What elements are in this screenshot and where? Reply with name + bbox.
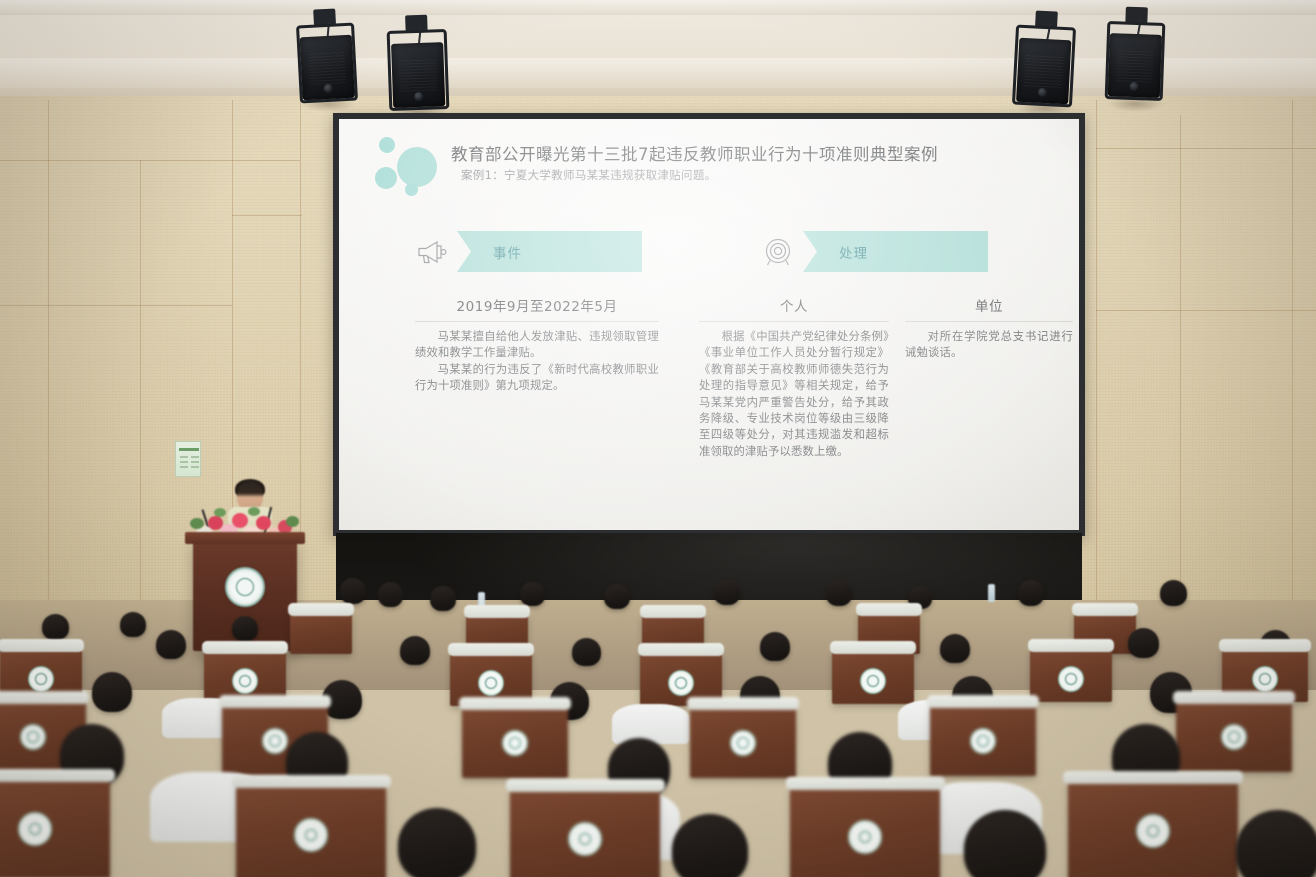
seat[interactable] [290,612,352,654]
audience-head [340,578,366,604]
column-person: 个人 根据《中国共产党纪律处分条例》《事业单位工作人员处分暂行规定》《教育部关于… [699,295,889,460]
badge-handling: 处理 [757,231,988,272]
water-bottle [988,584,995,602]
column-person-body: 根据《中国共产党纪律处分条例》《事业单位工作人员处分暂行规定》《教育部关于高校教… [699,329,889,460]
audience-head [520,582,545,606]
speaker-box [300,35,354,100]
wall-notice-board [175,441,201,477]
audience-head [1128,628,1159,658]
seat[interactable] [0,778,110,877]
badge-handling-label: 处理 [839,242,868,262]
audience-head [232,616,258,641]
podium-top [185,532,305,544]
wall-seam [232,215,302,216]
wall-seam [1096,148,1316,149]
circle-large-icon [397,147,437,187]
seat[interactable] [930,704,1036,776]
seat[interactable] [690,706,796,778]
foliage [190,518,204,529]
audience-head [672,814,748,877]
badge-event-label: 事件 [493,242,522,262]
speaker-grill [399,58,438,93]
speaker-box [1016,37,1072,104]
audience-head [714,580,740,605]
seat[interactable] [832,650,914,704]
audience-head [378,582,403,607]
audience-head [826,580,852,606]
speaker-grill [1024,53,1064,88]
audience-head [42,614,69,640]
speaker-woofer [414,91,424,101]
speaker-box [1108,34,1161,98]
speaker-grill [308,50,346,84]
ceiling-speaker-3 [1012,24,1076,107]
column-event: 2019年9月至2022年5月 马某某擅自给他人发放津贴、违规领取管理绩效和教学… [415,295,659,395]
column-unit-body: 对所在学院党总支书记进行诫勉谈话。 [905,329,1073,362]
audience-head [604,584,630,609]
seat[interactable] [510,788,660,877]
target-icon [757,233,799,271]
audience-head [1018,580,1044,606]
seat[interactable] [462,706,568,778]
seat[interactable] [1030,648,1112,702]
foliage [286,516,299,527]
circle-tiny-icon [405,183,418,196]
projection-screen-frame: 教育部公开曝光第十三批7起违反教师职业行为十项准则典型案例 案例1：宁夏大学教师… [333,113,1085,536]
divider [905,321,1073,322]
speaker-woofer [324,84,334,94]
decorative-circles [371,135,451,197]
audience-head [430,586,456,611]
column-event-heading: 2019年9月至2022年5月 [415,295,659,321]
audience-head [1160,580,1187,606]
column-unit-heading: 单位 [905,295,1073,321]
circle-small-icon [379,137,395,153]
column-unit: 单位 对所在学院党总支书记进行诫勉谈话。 [905,295,1073,362]
badge-event-bar: 事件 [457,231,642,272]
seat[interactable] [790,786,940,877]
audience-head [940,634,970,663]
seat[interactable] [236,784,386,877]
audience-head [1236,810,1316,877]
foliage [248,507,260,516]
flower [232,513,248,528]
audience-head [400,636,430,665]
audience-head [120,612,146,637]
audience-head [760,632,790,661]
audience-seating [0,560,1316,877]
ceiling-beam-front [0,0,1316,14]
paragraph: 马某某的行为违反了《新时代高校教师职业行为十项准则》第九项规定。 [415,362,659,395]
presentation-slide: 教育部公开曝光第十三批7起违反教师职业行为十项准则典型案例 案例1：宁夏大学教师… [339,119,1079,530]
foliage [214,508,226,517]
ceiling-speaker-1 [296,23,358,104]
paragraph: 根据《中国共产党纪律处分条例》《事业单位工作人员处分暂行规定》《教育部关于高校教… [699,329,889,460]
divider [415,321,659,322]
speaker-grill [1116,49,1154,83]
paragraph: 对所在学院党总支书记进行诫勉谈话。 [905,329,1073,362]
megaphone-icon [411,233,453,271]
speaker-box [391,42,446,108]
badge-event: 事件 [411,231,642,272]
paragraph: 马某某擅自给他人发放津贴、违规领取管理绩效和教学工作量津贴。 [415,329,659,362]
wall-seam [1096,310,1316,311]
audience-head [398,808,476,877]
wall-seam [0,160,300,161]
badge-handling-bar: 处理 [803,231,988,272]
ceiling-speaker-4 [1105,21,1166,101]
seat[interactable] [1176,700,1292,772]
circle-medium-icon [375,167,397,189]
slide-title: 教育部公开曝光第十三批7起违反教师职业行为十项准则典型案例 [451,141,1051,165]
audience-shoulders [612,704,690,744]
audience-head [92,672,132,712]
ceiling-speaker-2 [387,29,450,111]
column-event-body: 马某某擅自给他人发放津贴、违规领取管理绩效和教学工作量津贴。 马某某的行为违反了… [415,329,659,395]
wall-seam [0,305,232,306]
seat[interactable] [1068,780,1238,877]
divider [699,321,889,322]
speaker-woofer [1038,87,1048,97]
speaker-woofer [1129,82,1138,91]
column-person-heading: 个人 [699,295,889,321]
audience-head [572,638,601,666]
audience-head [156,630,186,659]
slide-subtitle: 案例1：宁夏大学教师马某某违规获取津贴问题。 [461,167,1061,183]
wall-seam [300,100,301,540]
projection-screen[interactable]: 教育部公开曝光第十三批7起违反教师职业行为十项准则典型案例 案例1：宁夏大学教师… [339,119,1079,530]
lecture-hall-scene: 教育部公开曝光第十三批7起违反教师职业行为十项准则典型案例 案例1：宁夏大学教师… [0,0,1316,877]
